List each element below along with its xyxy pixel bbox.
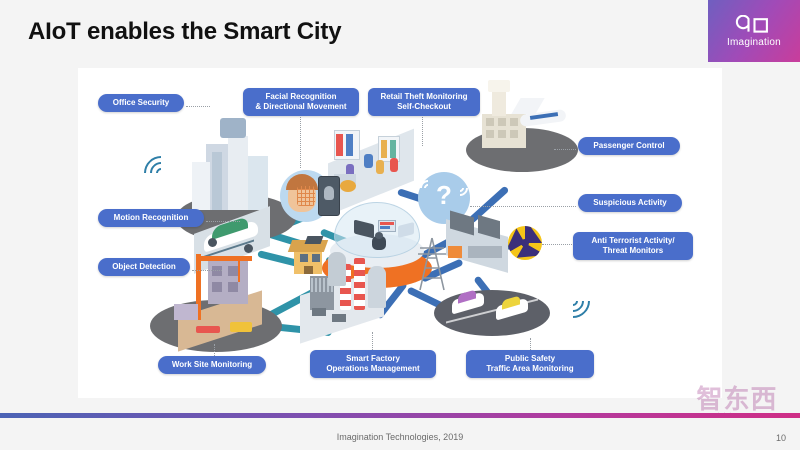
leader-passenger-control: [554, 149, 576, 150]
question-mark-icon: ?: [436, 182, 452, 208]
label-work-site[interactable]: Work Site Monitoring: [158, 356, 266, 374]
leader-motion-recognition: [206, 221, 240, 222]
label-public-safety[interactable]: Public Safety Traffic Area Monitoring: [466, 350, 594, 378]
label-passenger-control[interactable]: Passenger Control: [578, 137, 680, 155]
leader-smart-factory: [372, 332, 373, 350]
leader-anti-terrorist: [542, 244, 572, 245]
page-number: 10: [776, 433, 786, 443]
footer-copyright: Imagination Technologies, 2019: [0, 432, 800, 442]
radiation-hazard-icon: [508, 226, 542, 260]
imagination-logo: Imagination: [708, 0, 800, 62]
label-object-detection[interactable]: Object Detection: [98, 258, 190, 276]
label-retail-theft[interactable]: Retail Theft Monitoring Self-Checkout: [368, 88, 480, 116]
leader-work-site: [214, 344, 215, 356]
leader-public-safety: [530, 338, 531, 350]
label-facial-recognition[interactable]: Facial Recognition & Directional Movemen…: [243, 88, 359, 116]
leader-facial-recognition: [300, 112, 301, 168]
label-smart-factory[interactable]: Smart Factory Operations Management: [310, 350, 436, 378]
label-suspicious-activity[interactable]: Suspicious Activity: [578, 194, 682, 212]
logo-wordmark: Imagination: [727, 37, 781, 48]
label-anti-terrorist[interactable]: Anti Terrorist Activity/ Threat Monitors: [573, 232, 693, 260]
leader-object-detection: [192, 270, 222, 271]
pylon-icon: [414, 236, 450, 292]
slide-root: AIoT enables the Smart City Imagination: [0, 0, 800, 450]
leader-retail-theft: [422, 112, 423, 146]
label-motion-recognition[interactable]: Motion Recognition: [98, 209, 204, 227]
leader-suspicious-activity: [470, 206, 576, 207]
page-title: AIoT enables the Smart City: [28, 18, 341, 46]
diagram-canvas: ?: [78, 68, 722, 398]
label-office-security[interactable]: Office Security: [98, 94, 184, 112]
footer-gradient-bar: [0, 413, 800, 418]
imagination-circle-square-logo-icon: [734, 15, 774, 35]
leader-office-security: [186, 106, 210, 107]
